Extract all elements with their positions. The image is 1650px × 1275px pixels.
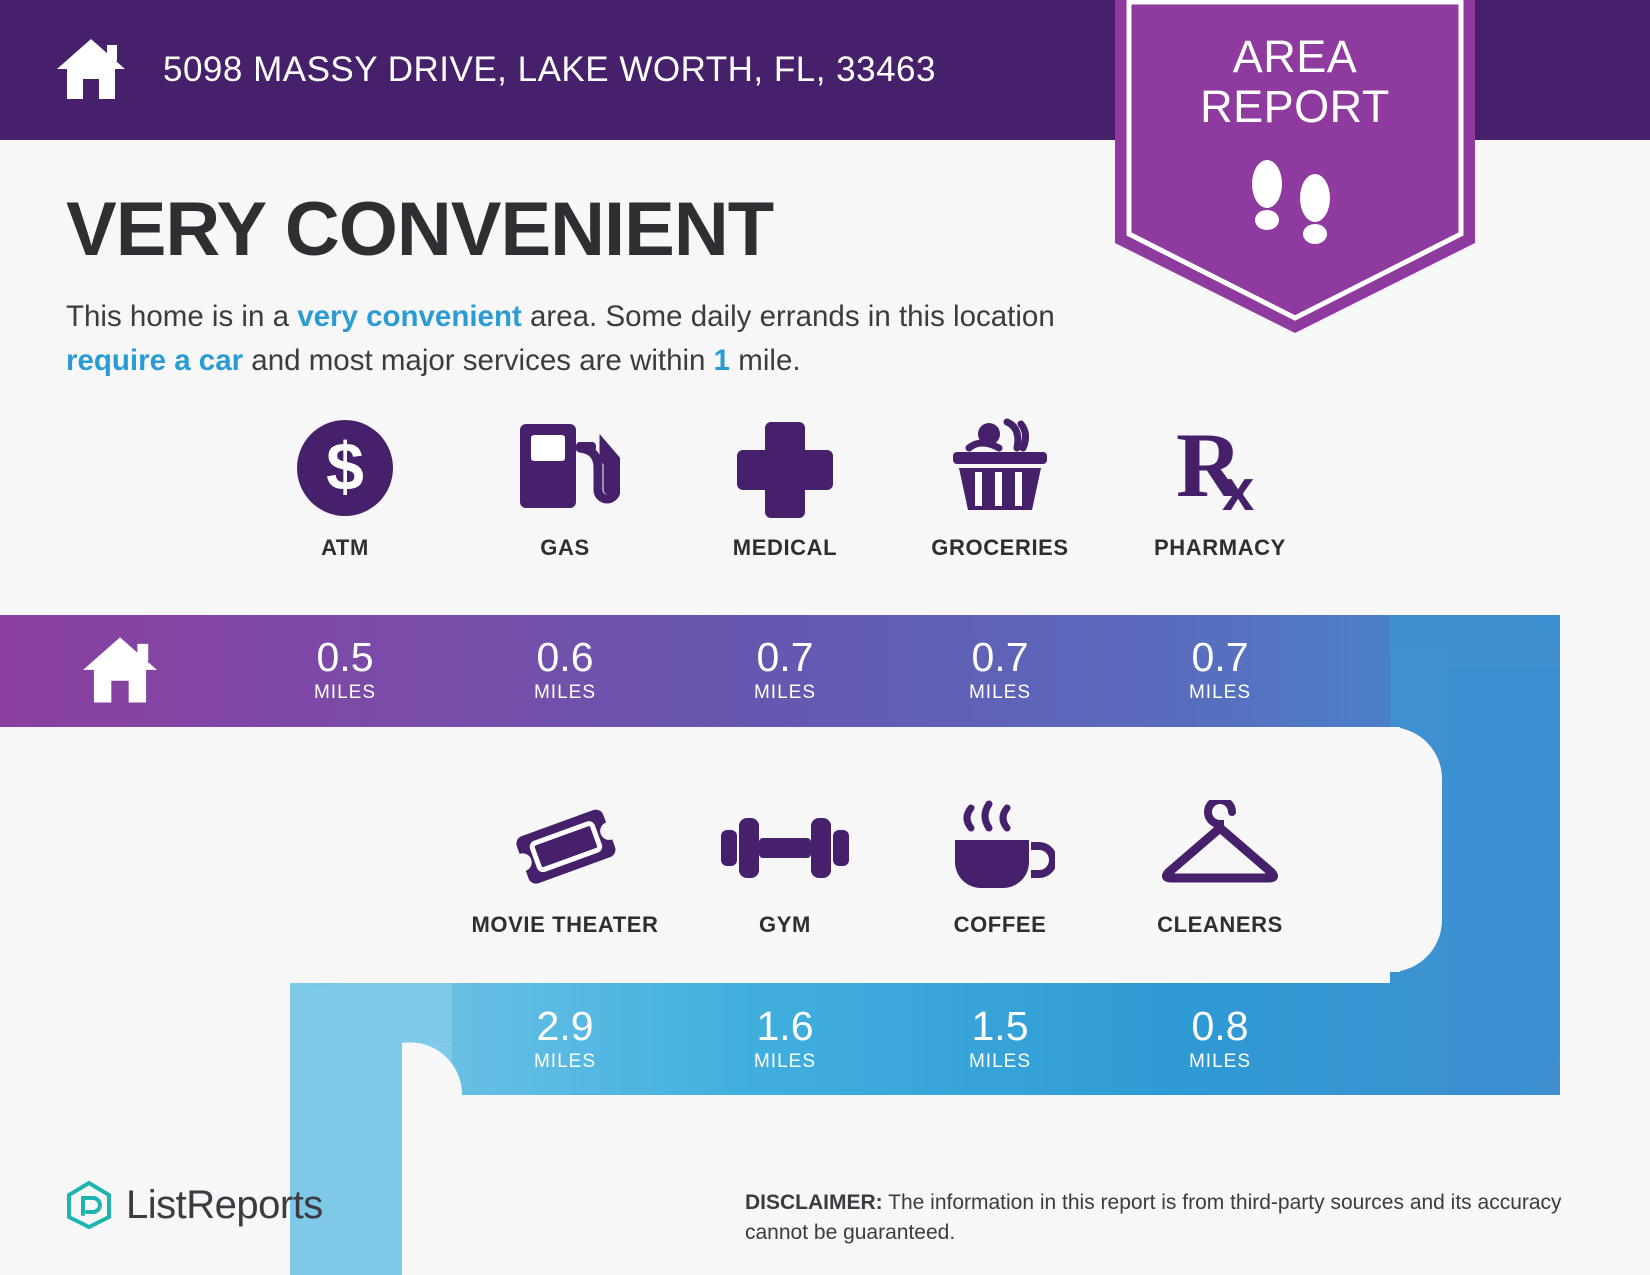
distance-unit: MILES — [754, 1051, 816, 1073]
row1-distance-bar: 0.5 MILES 0.6 MILES 0.7 MILES 0.7 MILES … — [0, 618, 1650, 723]
category-groceries: GROCERIES — [900, 418, 1100, 561]
area-report-banner: AREA REPORT — [1200, 0, 1390, 344]
dollar-coin-icon: $ — [295, 418, 395, 518]
disclaimer: DISCLAIMER: The information in this repo… — [745, 1188, 1605, 1248]
distance-atm: 0.5 MILES — [250, 618, 440, 723]
gas-pump-icon — [510, 418, 620, 518]
distance-value: 1.5 — [972, 1006, 1029, 1047]
home-icon — [55, 35, 127, 105]
row2-icon-strip: MOVIE THEATER GYM COFFEE CLEANERS — [0, 800, 1650, 950]
distance-unit: MILES — [534, 682, 596, 704]
distance-unit: MILES — [1189, 1051, 1251, 1073]
banner-line-2: REPORT — [1115, 82, 1475, 132]
summary-highlight-2: require a car — [66, 344, 243, 377]
distance-unit: MILES — [534, 1051, 596, 1073]
grocery-basket-icon — [945, 418, 1055, 518]
medical-cross-icon — [735, 418, 835, 518]
distance-coffee: 1.5 MILES — [900, 987, 1100, 1092]
row1-icon-strip: $ ATM GAS MEDICAL GROCERIES — [0, 418, 1650, 568]
property-address: 5098 MASSY DRIVE, LAKE WORTH, FL, 33463 — [163, 50, 936, 90]
category-label: CLEANERS — [1120, 912, 1320, 938]
category-gas: GAS — [470, 418, 660, 561]
summary-part-3: and most major services are within — [243, 344, 714, 377]
listreports-logo-icon — [66, 1180, 112, 1230]
category-label: MEDICAL — [690, 535, 880, 561]
category-label: COFFEE — [900, 912, 1100, 938]
distance-value: 0.7 — [1192, 637, 1249, 678]
clothes-hanger-icon — [1155, 800, 1285, 895]
coffee-cup-icon — [945, 800, 1055, 895]
page-title: VERY CONVENIENT — [66, 186, 773, 273]
listreports-logo: ListReports — [66, 1180, 323, 1230]
distance-value: 0.5 — [317, 637, 374, 678]
distance-value: 0.6 — [537, 637, 594, 678]
category-gym: GYM — [690, 800, 880, 938]
category-movie-theater: MOVIE THEATER — [470, 800, 660, 938]
distance-groceries: 0.7 MILES — [900, 618, 1100, 723]
distance-value: 1.6 — [757, 1006, 814, 1047]
distance-unit: MILES — [754, 682, 816, 704]
summary-text: This home is in a very convenient area. … — [66, 295, 1106, 383]
home-icon — [78, 633, 162, 709]
distance-value: 0.7 — [757, 637, 814, 678]
logo-text: ListReports — [126, 1183, 323, 1228]
category-label: MOVIE THEATER — [470, 912, 660, 938]
distance-cleaners: 0.8 MILES — [1120, 987, 1320, 1092]
distance-unit: MILES — [314, 682, 376, 704]
category-pharmacy: R x PHARMACY — [1120, 418, 1320, 561]
distance-value: 0.8 — [1192, 1006, 1249, 1047]
summary-highlight-3: 1 — [714, 344, 730, 377]
category-label: GROCERIES — [900, 535, 1100, 561]
distance-medical: 0.7 MILES — [690, 618, 880, 723]
svg-text:x: x — [1222, 458, 1254, 518]
category-label: GYM — [690, 912, 880, 938]
category-label: PHARMACY — [1120, 535, 1320, 561]
distance-movie-theater: 2.9 MILES — [470, 987, 660, 1092]
distance-unit: MILES — [1189, 682, 1251, 704]
category-medical: MEDICAL — [690, 418, 880, 561]
category-cleaners: CLEANERS — [1120, 800, 1320, 938]
rx-icon: R x — [1170, 418, 1270, 518]
movie-ticket-icon — [510, 800, 620, 895]
distance-pharmacy: 0.7 MILES — [1120, 618, 1320, 723]
distance-unit: MILES — [969, 1051, 1031, 1073]
category-coffee: COFFEE — [900, 800, 1100, 938]
disclaimer-label: DISCLAIMER: — [745, 1191, 883, 1214]
summary-highlight-1: very convenient — [297, 300, 522, 333]
distance-unit: MILES — [969, 682, 1031, 704]
distance-gas: 0.6 MILES — [470, 618, 660, 723]
summary-part-1: This home is in a — [66, 300, 297, 333]
category-atm: $ ATM — [250, 418, 440, 561]
distance-value: 2.9 — [537, 1006, 594, 1047]
row2-distance-bar: 2.9 MILES 1.6 MILES 1.5 MILES 0.8 MILES — [0, 987, 1650, 1092]
category-label: GAS — [470, 535, 660, 561]
footprints-icon — [1235, 154, 1355, 244]
dumbbell-icon — [715, 800, 855, 895]
distance-gym: 1.6 MILES — [690, 987, 880, 1092]
svg-text:$: $ — [326, 429, 364, 505]
route-home-marker — [60, 618, 180, 723]
distance-value: 0.7 — [972, 637, 1029, 678]
banner-line-1: AREA — [1115, 32, 1475, 82]
summary-part-4: mile. — [730, 344, 800, 377]
category-label: ATM — [250, 535, 440, 561]
summary-part-2: area. Some daily errands in this locatio… — [522, 300, 1055, 333]
